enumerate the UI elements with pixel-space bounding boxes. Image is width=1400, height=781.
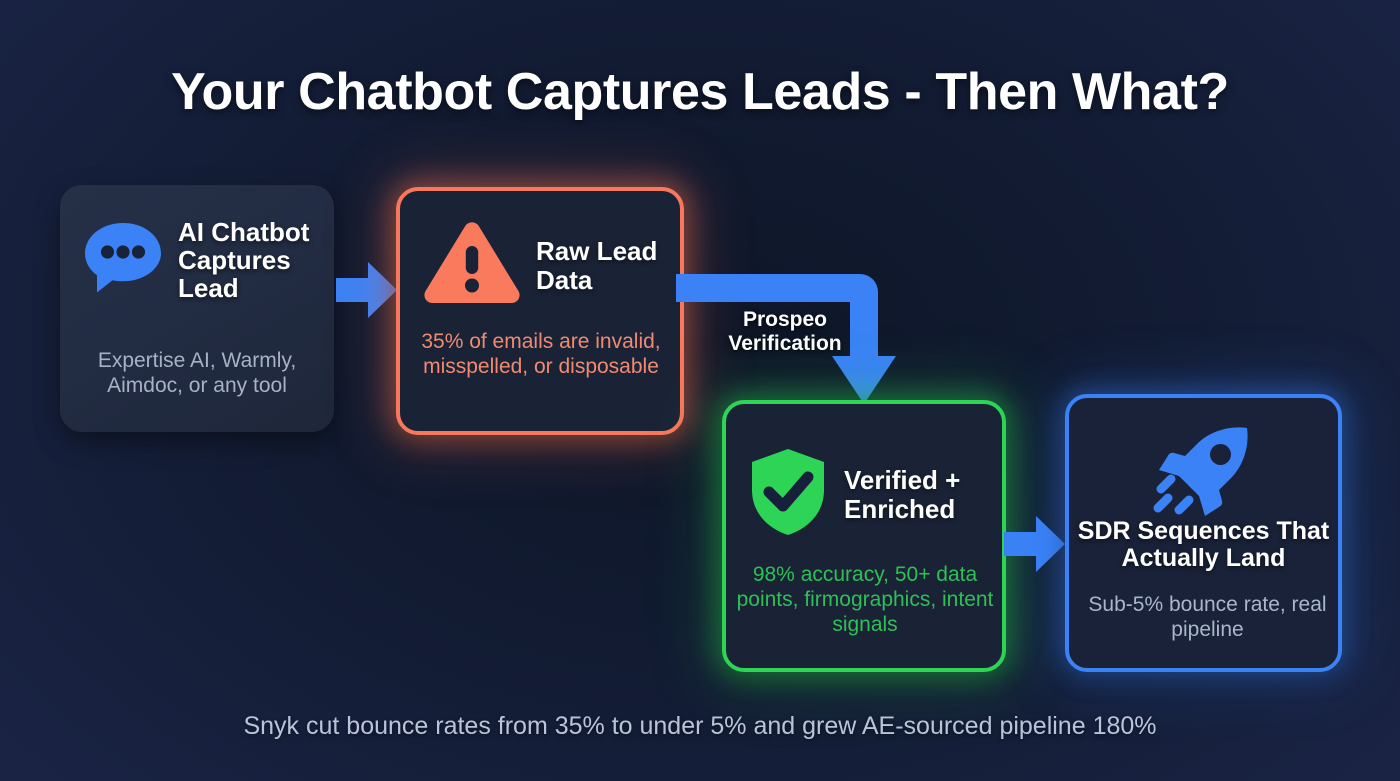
card-title: Verified + Enriched bbox=[844, 466, 992, 522]
connector-label-line1: Prospeo bbox=[690, 308, 880, 332]
flow-step-chatbot[interactable]: AI Chatbot Captures Lead Expertise AI, W… bbox=[60, 185, 334, 432]
rocket-icon bbox=[1152, 422, 1256, 523]
connector-label-prospeo-verification: Prospeo Verification bbox=[690, 308, 880, 356]
shield-check-icon bbox=[746, 446, 830, 543]
page-title: Your Chatbot Captures Leads - Then What? bbox=[0, 62, 1400, 122]
chat-bubble-icon bbox=[82, 220, 164, 301]
warning-triangle-icon bbox=[422, 219, 522, 312]
card-subtitle: 98% accuracy, 50+ data points, firmograp… bbox=[734, 562, 996, 638]
arrow-chatbot-to-raw bbox=[336, 258, 398, 327]
footer-caption: Snyk cut bounce rates from 35% to under … bbox=[0, 712, 1400, 741]
card-header: AI Chatbot Captures Lead bbox=[82, 218, 314, 302]
flow-step-sdr-sequences[interactable]: SDR Sequences That Actually Land Sub-5% … bbox=[1065, 394, 1342, 672]
card-icon-row bbox=[1069, 422, 1338, 523]
card-subtitle: 35% of emails are invalid, misspelled, o… bbox=[412, 329, 670, 379]
arrow-verified-to-sdr bbox=[1004, 512, 1066, 581]
card-title: AI Chatbot Captures Lead bbox=[178, 218, 314, 302]
card-header: SDR Sequences That Actually Land bbox=[1069, 518, 1338, 572]
flow-step-verified-enriched[interactable]: Verified + Enriched 98% accuracy, 50+ da… bbox=[722, 400, 1006, 672]
flow-step-raw-lead-data[interactable]: Raw Lead Data 35% of emails are invalid,… bbox=[396, 187, 684, 435]
card-subtitle: Expertise AI, Warmly, Aimdoc, or any too… bbox=[70, 348, 324, 398]
connector-label-line2: Verification bbox=[690, 332, 880, 356]
infographic-canvas: Your Chatbot Captures Leads - Then What?… bbox=[0, 0, 1400, 781]
card-subtitle: Sub-5% bounce rate, real pipeline bbox=[1077, 592, 1338, 642]
card-header: Raw Lead Data bbox=[422, 219, 668, 312]
card-title: SDR Sequences That Actually Land bbox=[1069, 518, 1338, 572]
card-title: Raw Lead Data bbox=[536, 237, 666, 293]
card-header: Verified + Enriched bbox=[746, 446, 992, 543]
